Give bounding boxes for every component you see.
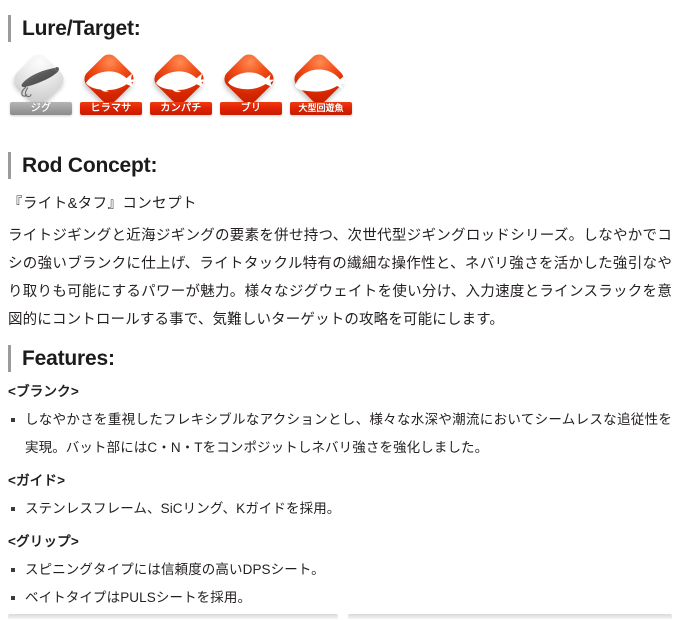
- feature-list-item: ベイトタイプはPULSシートを採用。: [8, 584, 672, 612]
- metal-jig-icon: [13, 63, 69, 99]
- fish-hiramasa-icon: [82, 66, 140, 96]
- feature-group-grip: <グリップ> スピニングタイプには信頼度の高いDPSシート。 ベイトタイプはPU…: [8, 531, 672, 612]
- lure-target-label-large-migratory: 大型回遊魚: [290, 102, 352, 115]
- lure-target-item-hiramasa[interactable]: ヒラマサ: [80, 57, 142, 115]
- bottom-bar-right: [348, 614, 672, 619]
- feature-group-blank: <ブランク> しなやかさを重視したフレキシブルなアクションとし、様々な水深や潮流…: [8, 381, 672, 462]
- lure-target-item-large-migratory[interactable]: 大型回遊魚: [290, 57, 352, 115]
- bottom-panel-bars: [0, 612, 680, 620]
- features-block: <ブランク> しなやかさを重視したフレキシブルなアクションとし、様々な水深や潮流…: [8, 381, 672, 620]
- feature-group-title: <グリップ>: [8, 531, 672, 553]
- feature-group-title: <ブランク>: [8, 381, 672, 403]
- feature-list: しなやかさを重視したフレキシブルなアクションとし、様々な水深や潮流においてシーム…: [8, 406, 672, 462]
- lure-target-label-hiramasa: ヒラマサ: [80, 102, 142, 115]
- section-heading-features: Features:: [0, 345, 115, 372]
- fish-kanpachi-icon: [152, 66, 210, 96]
- lure-target-icon-row: ジグ ヒラマサ カンパチ: [10, 57, 352, 115]
- section-heading-lure-target-label: Lure/Target:: [11, 18, 141, 39]
- fish-large-migratory-icon: [292, 66, 350, 96]
- section-heading-rod-concept: Rod Concept:: [0, 152, 157, 179]
- lure-target-label-kanpachi: カンパチ: [150, 102, 212, 115]
- lure-target-label-buri: ブリ: [220, 102, 282, 115]
- section-heading-rod-concept-label: Rod Concept:: [11, 155, 157, 176]
- lure-target-label-jig: ジグ: [10, 102, 72, 115]
- feature-list-item: ステンレスフレーム、SiCリング、Kガイドを採用。: [8, 495, 672, 523]
- lure-target-item-kanpachi[interactable]: カンパチ: [150, 57, 212, 115]
- product-description-page: Lure/Target:: [0, 0, 680, 620]
- lure-target-item-jig[interactable]: ジグ: [10, 57, 72, 115]
- feature-list: ステンレスフレーム、SiCリング、Kガイドを採用。: [8, 495, 672, 523]
- fish-buri-icon: [222, 66, 280, 96]
- section-heading-lure-target: Lure/Target:: [0, 15, 141, 42]
- feature-group-guide: <ガイド> ステンレスフレーム、SiCリング、Kガイドを採用。: [8, 470, 672, 523]
- section-heading-features-label: Features:: [11, 348, 115, 369]
- feature-list: スピニングタイプには信頼度の高いDPSシート。 ベイトタイプはPULSシートを採…: [8, 556, 672, 612]
- feature-list-item: スピニングタイプには信頼度の高いDPSシート。: [8, 556, 672, 584]
- feature-list-item: しなやかさを重視したフレキシブルなアクションとし、様々な水深や潮流においてシーム…: [8, 406, 672, 462]
- lure-target-item-buri[interactable]: ブリ: [220, 57, 282, 115]
- feature-group-title: <ガイド>: [8, 470, 672, 492]
- bottom-bar-left: [8, 614, 338, 619]
- rod-concept-subtitle: 『ライト&タフ』コンセプト: [8, 197, 197, 212]
- rod-concept-body: ライトジギングと近海ジギングの要素を併せ持つ、次世代型ジギングロッドシリーズ。し…: [8, 222, 672, 334]
